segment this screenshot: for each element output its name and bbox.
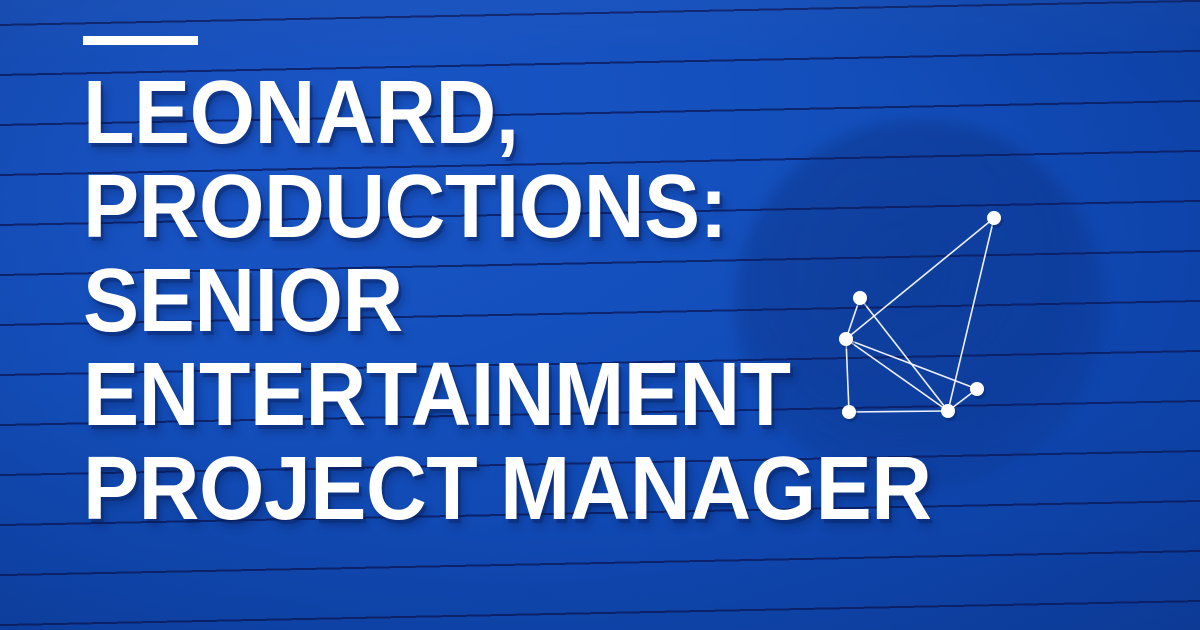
page-title: LEONARD, PRODUCTIONS: SENIOR ENTERTAINME… <box>83 66 953 536</box>
accent-rule <box>83 36 198 45</box>
social-share-card: LEONARD, PRODUCTIONS: SENIOR ENTERTAINME… <box>0 0 1200 630</box>
